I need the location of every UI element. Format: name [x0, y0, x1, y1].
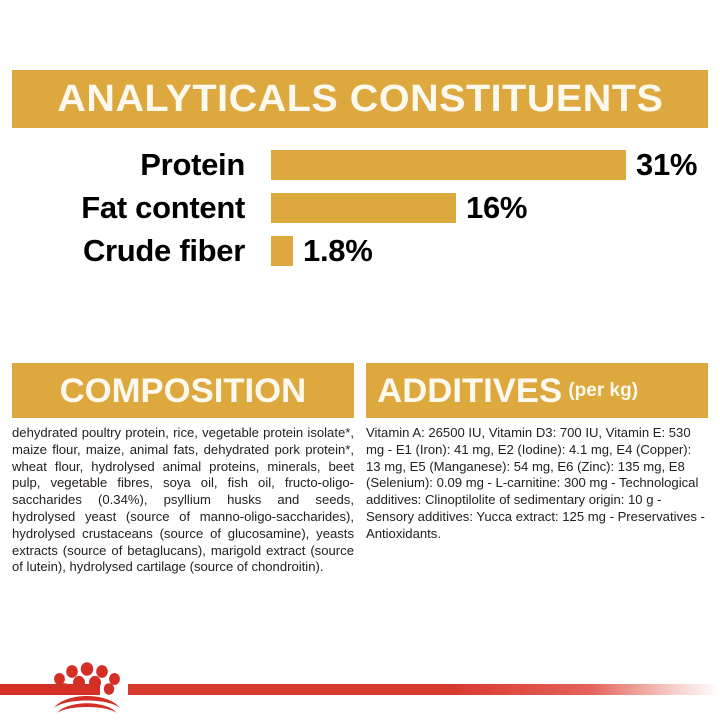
- bar-value-fat-content: 16%: [466, 192, 527, 223]
- chart-row-fat-content: Fat content 16%: [0, 186, 720, 229]
- bar-fill-crude-fiber: [271, 236, 293, 266]
- bar-fill-protein: [271, 150, 626, 180]
- bar-value-protein: 31%: [636, 149, 697, 180]
- bar-fill-fat-content: [271, 193, 456, 223]
- additives-text: Vitamin A: 26500 IU, Vitamin D3: 700 IU,…: [366, 425, 708, 543]
- composition-text: dehydrated poultry protein, rice, vegeta…: [12, 425, 354, 576]
- composition-banner: COMPOSITION: [12, 363, 354, 418]
- additives-panel: ADDITIVES (per kg) Vitamin A: 26500 IU, …: [366, 363, 708, 543]
- chart-row-protein: Protein 31%: [0, 143, 720, 186]
- analyticals-constituents-banner: ANALYTICALS CONSTITUENTS: [12, 70, 708, 128]
- additives-banner: ADDITIVES (per kg): [366, 363, 708, 418]
- bar-track-crude-fiber: 1.8%: [271, 229, 372, 272]
- bar-track-fat-content: 16%: [271, 186, 527, 229]
- page-title: ANALYTICALS CONSTITUENTS: [57, 80, 663, 118]
- composition-panel: COMPOSITION dehydrated poultry protein, …: [12, 363, 354, 576]
- bar-track-protein: 31%: [271, 143, 697, 186]
- bar-label-protein: Protein: [0, 149, 245, 180]
- chart-row-crude-fiber: Crude fiber 1.8%: [0, 229, 720, 272]
- footer-brand-bar: [0, 656, 720, 720]
- bar-label-crude-fiber: Crude fiber: [0, 235, 245, 266]
- royal-canin-crown-icon: [48, 662, 126, 714]
- analytical-constituents-chart: Protein 31% Fat content 16% Crude fiber …: [0, 143, 720, 273]
- additives-heading: ADDITIVES: [377, 374, 562, 408]
- composition-heading: COMPOSITION: [60, 374, 307, 408]
- bar-label-fat-content: Fat content: [0, 192, 245, 223]
- bar-value-crude-fiber: 1.8%: [303, 235, 372, 266]
- red-stripe-right: [128, 684, 720, 695]
- additives-subheading: (per kg): [568, 381, 638, 400]
